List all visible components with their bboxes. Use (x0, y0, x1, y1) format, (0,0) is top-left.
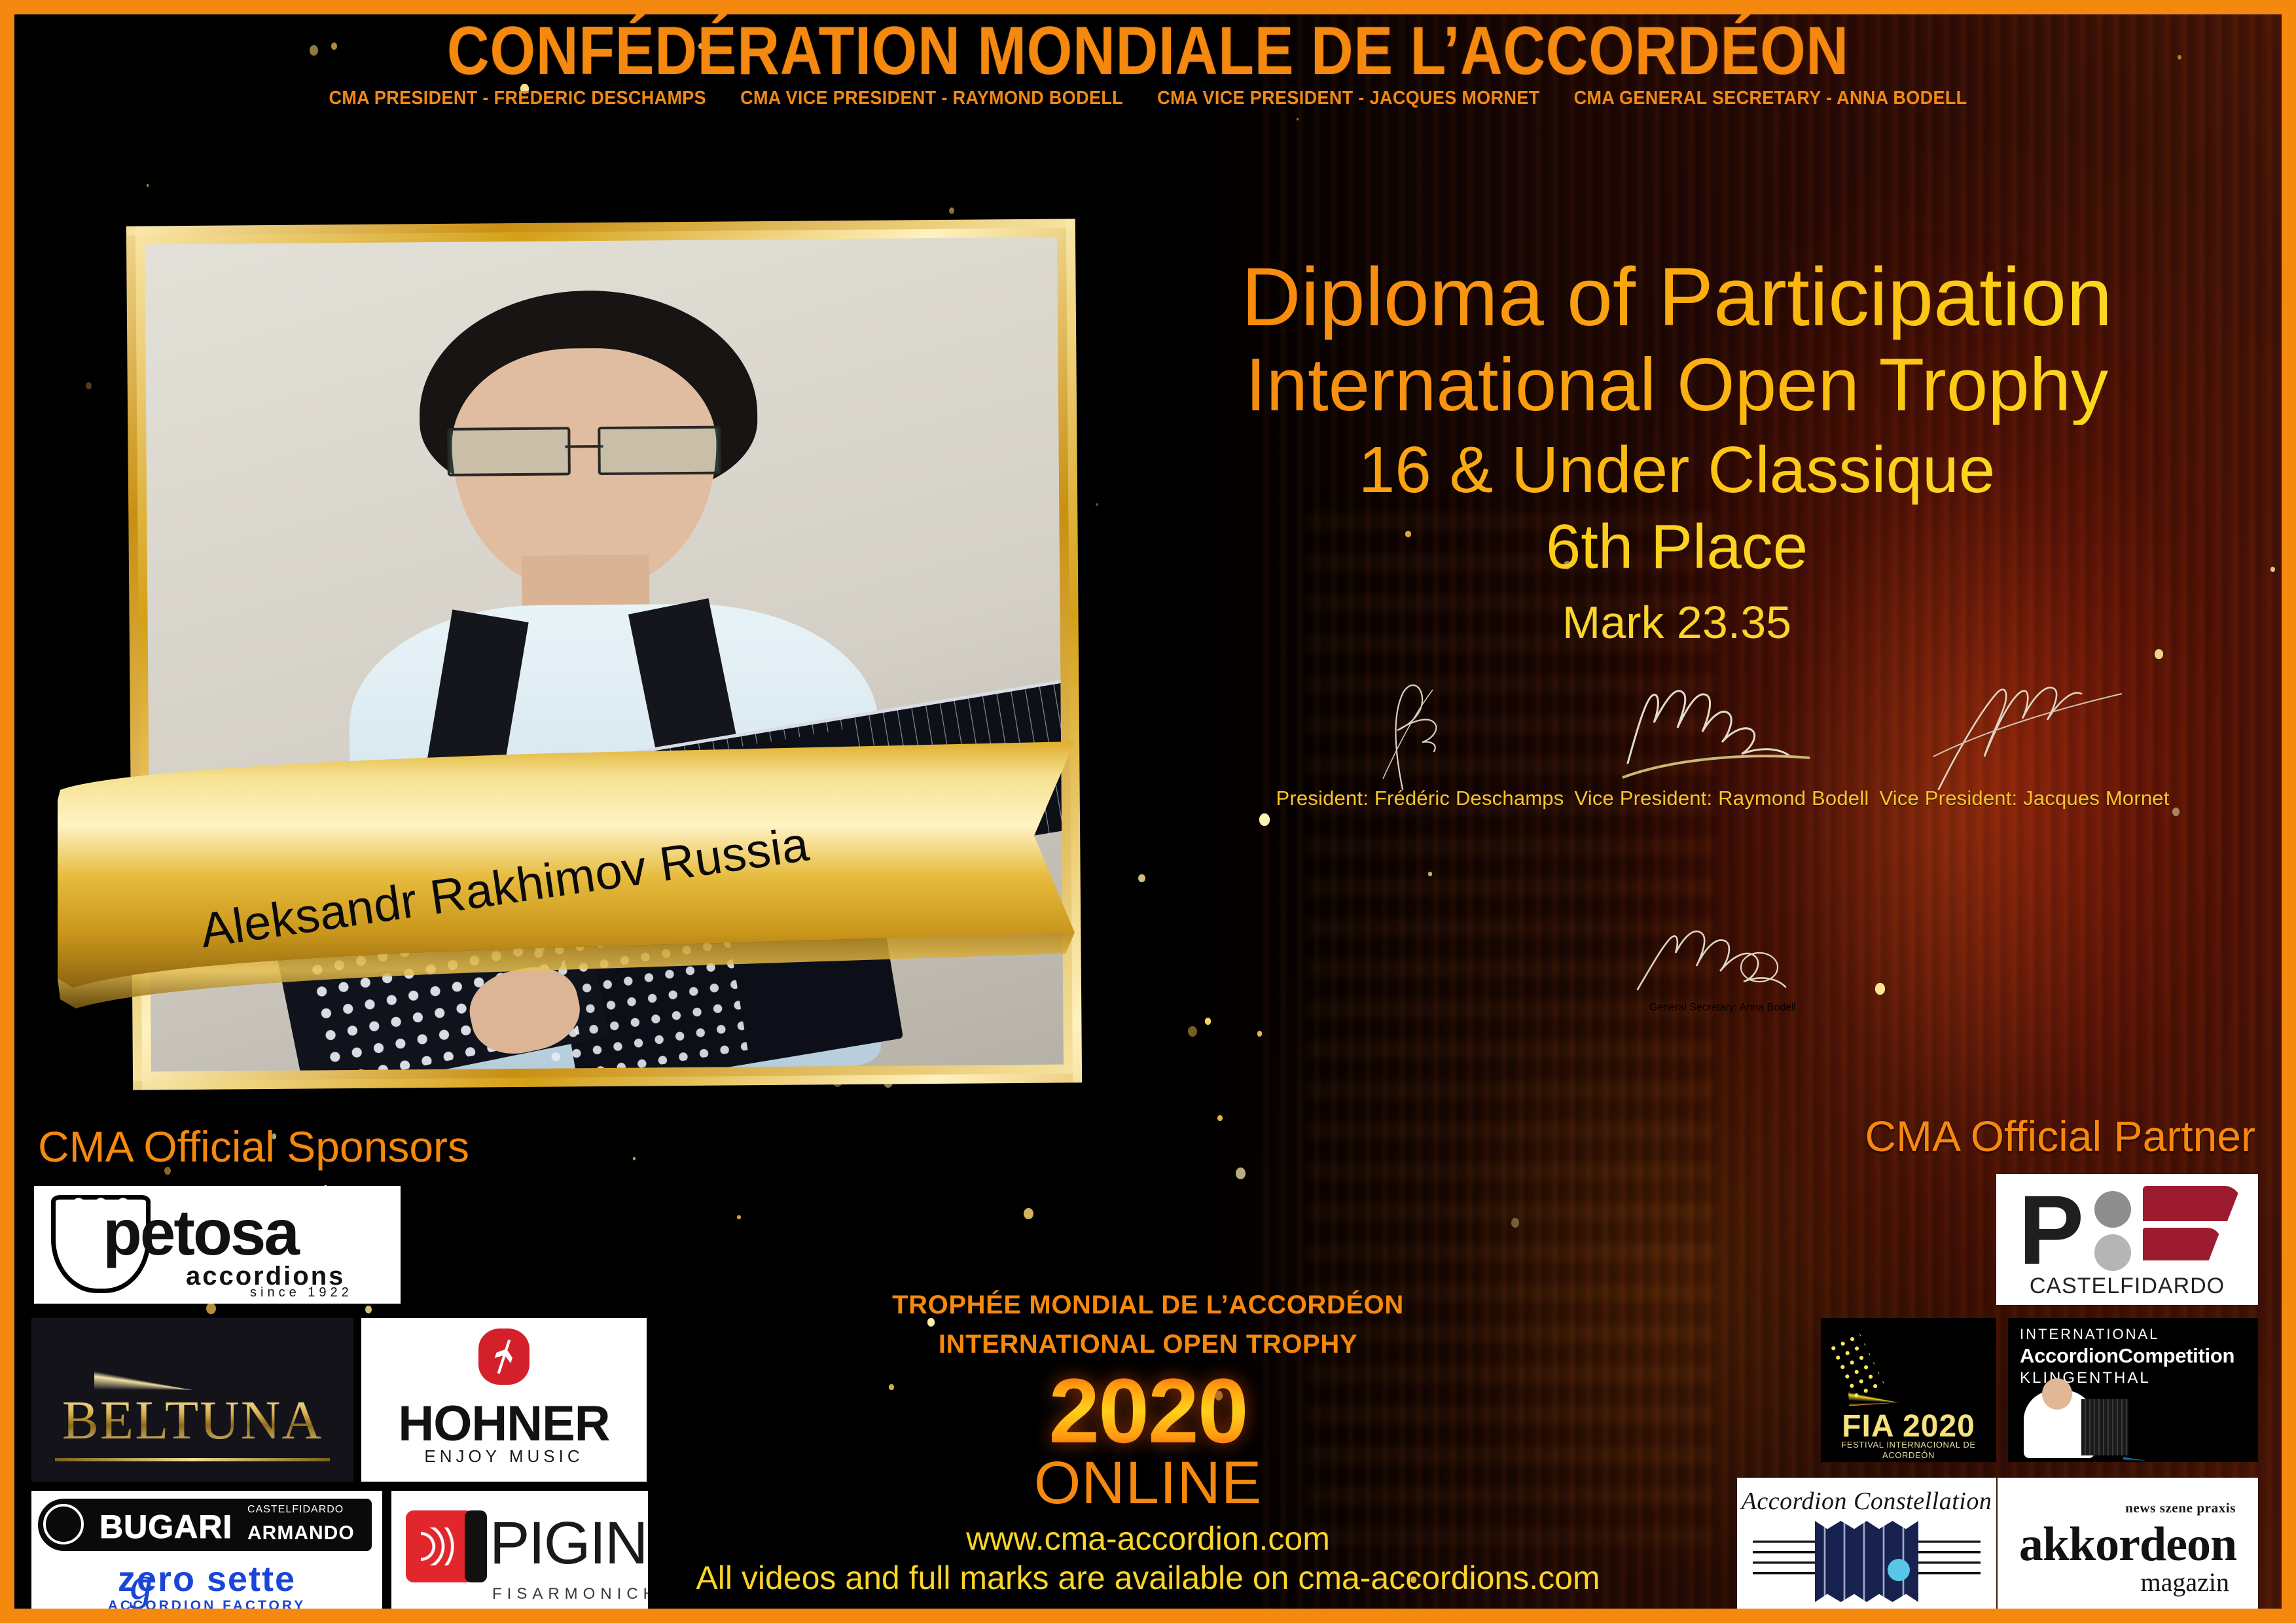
diploma-certificate: CONFÉDÉRATION MONDIALE DE L’ACCORDÉON CM… (0, 0, 2296, 1623)
partners-label: CMA Official Partner (1865, 1111, 2255, 1161)
pif-dot-icon (2094, 1191, 2131, 1228)
footer: TROPHÉE MONDIAL DE L’ACCORDÉON INTERNATI… (14, 1285, 2282, 1597)
award-place: 6th Place (1088, 514, 2266, 580)
officer-general-secretary: CMA GENERAL SECRETARY - ANNA BODELL (1574, 88, 1967, 109)
award-title: Diploma of Participation (1088, 255, 2266, 340)
officers-list: CMA PRESIDENT - FREDERIC DESCHAMPS CMA V… (94, 88, 2202, 109)
signature-general-secretary: General Secretary: Anna Bodell (1140, 927, 2282, 1014)
pif-flag-icon (2143, 1228, 2221, 1260)
award-titles: Diploma of Participation International O… (1088, 255, 2266, 648)
award-event: International Open Trophy (1088, 346, 2266, 425)
petosa-wordmark: petosa (103, 1200, 298, 1264)
recipient-photo (145, 238, 1064, 1072)
officer-vice-president-2: CMA VICE PRESIDENT - JACQUES MORNET (1157, 88, 1539, 109)
pif-flag-icon (2143, 1186, 2241, 1221)
footer-url[interactable]: www.cma-accordion.com (14, 1520, 2282, 1558)
header: CONFÉDÉRATION MONDIALE DE L’ACCORDÉON CM… (14, 16, 2282, 109)
footer-year: 2020 (14, 1365, 2282, 1457)
sponsors-label: CMA Official Sponsors (38, 1122, 469, 1171)
signature-vice-president-2: Vice President: Jacques Mornet (1879, 787, 2169, 810)
footer-line1: TROPHÉE MONDIAL DE L’ACCORDÉON (14, 1285, 2282, 1325)
glasses-icon (447, 426, 721, 471)
recipient-photo-frame (126, 219, 1082, 1090)
footer-line2: INTERNATIONAL OPEN TROPHY (14, 1325, 2282, 1364)
award-category: 16 & Under Classique (1088, 435, 2266, 505)
signature-vice-president-1: Vice President: Raymond Bodell (1574, 787, 1869, 810)
signature-president: President: Frédéric Deschamps (1276, 787, 1564, 810)
pif-p-letter: P (2018, 1181, 2084, 1279)
certificate-canvas: CONFÉDÉRATION MONDIALE DE L’ACCORDÉON CM… (14, 14, 2282, 1609)
signature-block: President: Frédéric Deschamps Vice Presi… (1140, 787, 2282, 1048)
pif-dot-icon (2094, 1234, 2131, 1271)
officer-president: CMA PRESIDENT - FREDERIC DESCHAMPS (329, 88, 706, 109)
signature-caption: General Secretary: Anna Bodell (1140, 1002, 2282, 1014)
award-mark: Mark 23.35 (1088, 597, 2266, 648)
officer-vice-president-1: CMA VICE PRESIDENT - RAYMOND BODELL (740, 88, 1123, 109)
organization-title: CONFÉDÉRATION MONDIALE DE L’ACCORDÉON (173, 16, 2123, 86)
footer-note: All videos and full marks are available … (14, 1559, 2282, 1597)
zerosette-tagline: ACCORDION FACTORY (31, 1598, 382, 1609)
